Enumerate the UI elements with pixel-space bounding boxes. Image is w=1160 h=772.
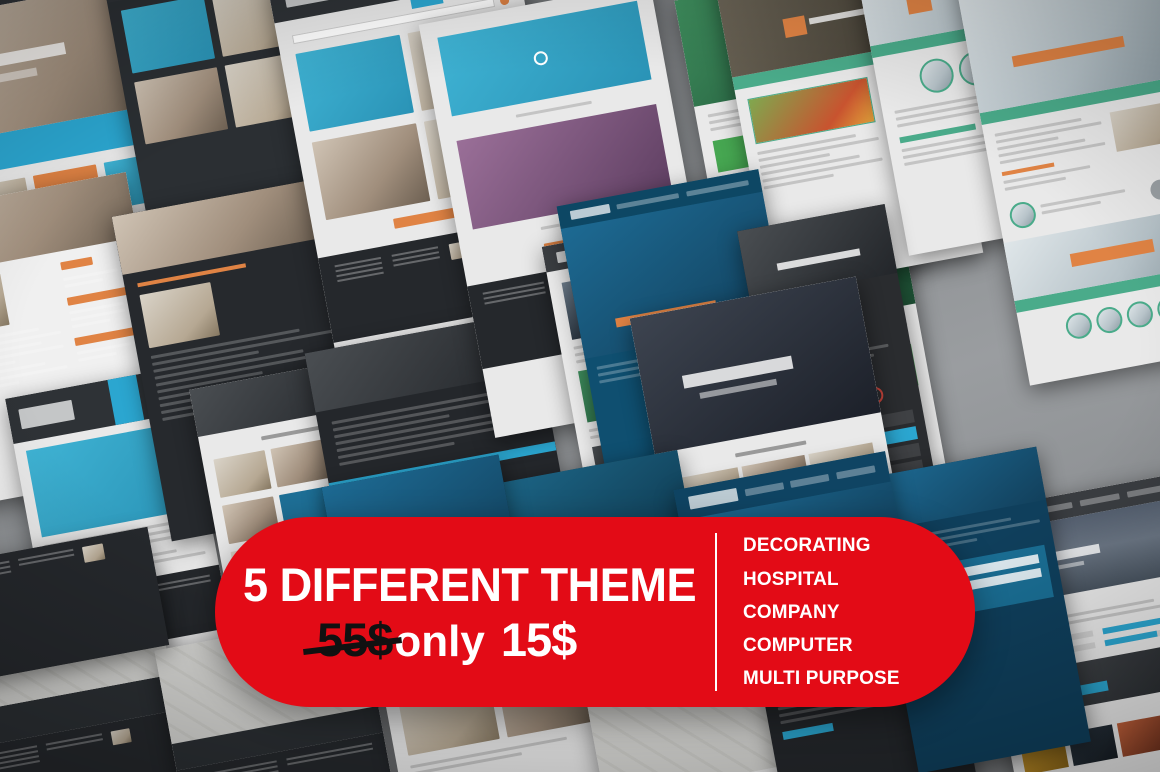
nav-item: [836, 465, 876, 479]
product-thumb: [295, 35, 413, 132]
thumbnail: [271, 440, 328, 487]
zoom-icon: [533, 50, 549, 66]
footer-line: [0, 571, 11, 583]
thumbnail: [134, 67, 229, 145]
promo-theme-item-decorating: DECORATING: [743, 530, 968, 560]
testimonial-avatar: [1007, 200, 1037, 230]
flickr-thumb: [82, 544, 106, 564]
promo-price-line: 55$ only 15$: [243, 616, 715, 664]
footer-column: [82, 537, 155, 649]
footer-column: [335, 257, 393, 330]
screen-logo: [570, 204, 611, 221]
promo-theme-item-hospital: HOSPITAL: [743, 564, 968, 594]
nav-item: [744, 482, 784, 496]
footer-column: [0, 745, 50, 772]
promo-theme-item-computer: COMPUTER: [743, 630, 968, 660]
promo-theme-list: DECORATING HOSPITAL COMPANY COMPUTER MUL…: [717, 517, 975, 707]
promo-title: 5 DIFFERENT THEME: [243, 561, 696, 608]
featured-image: [438, 1, 651, 116]
nav-active-tab: [108, 375, 145, 426]
screen-logo: [18, 400, 74, 429]
promo-old-price: 55$: [317, 616, 392, 663]
section-title: [735, 440, 807, 457]
promo-only-label: only: [394, 620, 484, 664]
footer-column: [286, 743, 382, 772]
hero-badge: [783, 16, 808, 38]
room-image: [1109, 99, 1160, 151]
promo-left: 5 DIFFERENT THEME 55$ only 15$: [215, 517, 715, 707]
collage-stage: 5 DIFFERENT THEME 55$ only 15$ DECORATIN…: [0, 0, 1160, 772]
nav-item: [686, 180, 749, 197]
doctor-avatar: [1094, 305, 1124, 335]
promo-new-price: 15$: [501, 616, 576, 663]
footer-column: [483, 282, 556, 357]
caption: [516, 101, 592, 118]
thumbnail: [214, 451, 271, 498]
hero-subheading: [0, 68, 37, 91]
post-image: [139, 282, 220, 348]
featured-image: [747, 77, 876, 145]
text-line: [0, 381, 20, 396]
footer-column: [391, 247, 449, 320]
promo-banner: 5 DIFFERENT THEME 55$ only 15$ DECORATIN…: [215, 517, 975, 707]
nav-item: [1127, 485, 1160, 498]
text-line: [763, 174, 833, 190]
screen-logo: [688, 488, 739, 510]
hero-badge: [1070, 239, 1155, 267]
team-photo: [1117, 715, 1160, 757]
thumbnail: [0, 274, 10, 338]
doctor-avatar: [1124, 299, 1154, 329]
nav-item: [790, 474, 830, 488]
footer-column: [18, 549, 91, 661]
doctor-avatar: [917, 56, 957, 96]
nav-item: [1079, 493, 1120, 506]
footer-column: [46, 733, 115, 772]
flickr-thumb: [111, 728, 132, 745]
thumbnail: [121, 0, 216, 73]
hero-badge: [906, 0, 932, 15]
cta-button: [782, 723, 834, 740]
doctor-avatar: [1063, 310, 1093, 340]
doctor-avatar: [1155, 293, 1160, 323]
hero-heading: [777, 248, 861, 270]
hero-cta: [1012, 36, 1125, 67]
screen-logo: [284, 0, 352, 8]
promo-theme-item-multi-purpose: MULTI PURPOSE: [743, 663, 968, 693]
grid-toggle: [499, 0, 509, 6]
cta-button: [60, 257, 93, 271]
product-thumb: [312, 123, 430, 220]
nav-item: [616, 193, 679, 210]
section-title: [261, 425, 327, 441]
promo-theme-item-company: COMPANY: [743, 597, 968, 627]
partner-logo: [1148, 178, 1160, 201]
